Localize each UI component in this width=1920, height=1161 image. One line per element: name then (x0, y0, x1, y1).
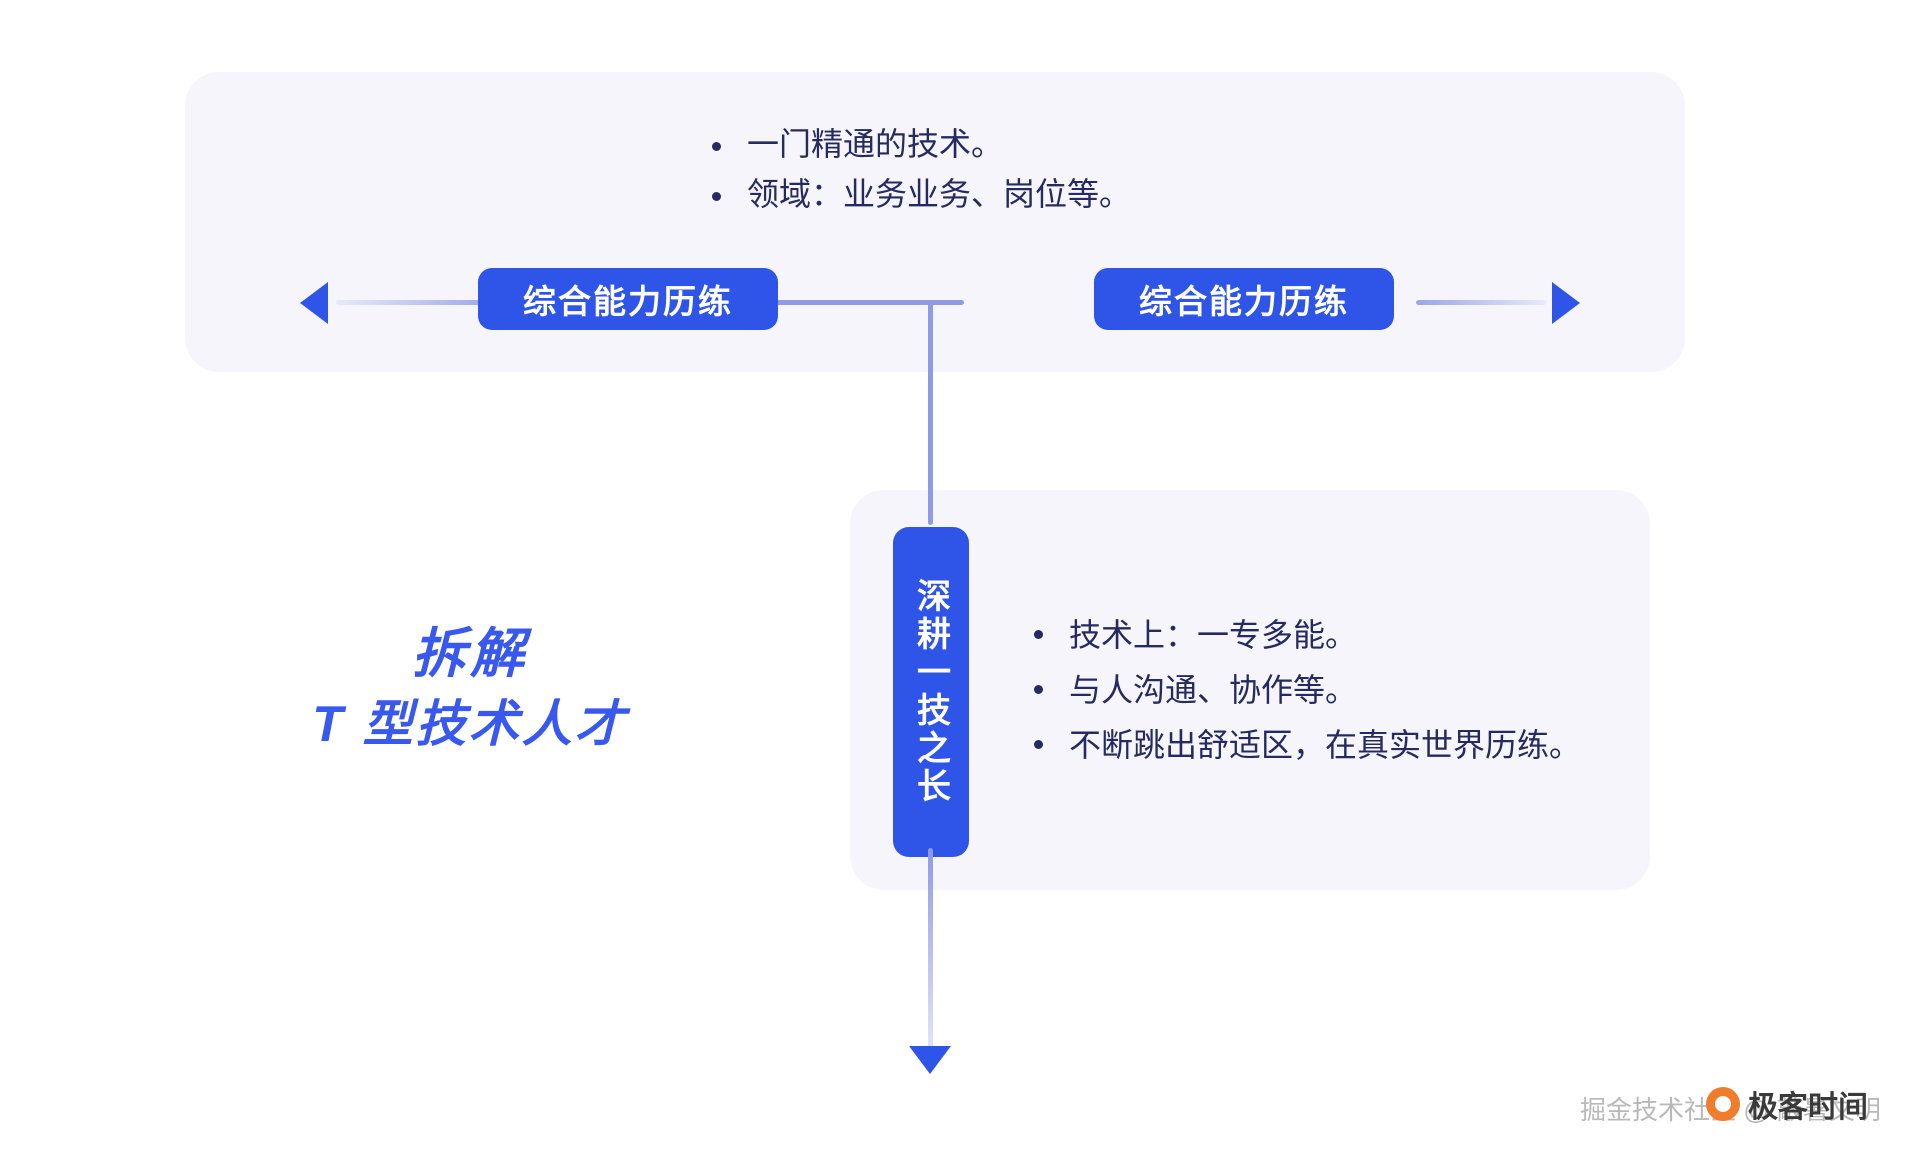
triangle-right-icon (1552, 282, 1580, 324)
bullet-dot-icon (712, 142, 721, 151)
geekbang-logo-icon (1706, 1087, 1740, 1121)
page-title: 拆解 T 型技术人才 (280, 618, 660, 758)
list-item: 领域：业务业务、岗位等。 (712, 170, 1131, 220)
bullet-text: 一门精通的技术。 (747, 120, 1003, 170)
triangle-left-icon (300, 282, 328, 324)
watermark-brand: 极客时间 (1706, 1082, 1868, 1126)
slide-canvas: 一门精通的技术。 领域：业务业务、岗位等。 综合能力历练 综合能力历练 深耕一技… (0, 0, 1920, 1161)
pill-comprehensive-ability-right[interactable]: 综合能力历练 (1094, 268, 1394, 330)
bullet-dot-icon (712, 192, 721, 201)
page-title-line-1: 拆解 (280, 618, 660, 691)
bullet-text: 不断跳出舒适区，在真实世界历练。 (1069, 718, 1581, 773)
list-item: 不断跳出舒适区，在真实世界历练。 (1034, 718, 1581, 773)
pill-deep-expertise[interactable]: 深耕一技之长 (893, 527, 969, 857)
bullet-dot-icon (1034, 740, 1043, 749)
top-bullet-list: 一门精通的技术。 领域：业务业务、岗位等。 (712, 120, 1131, 219)
axis-segment-left (336, 300, 496, 305)
axis-segment-right (1416, 300, 1546, 305)
triangle-down-icon (909, 1046, 951, 1074)
list-item: 与人沟通、协作等。 (1034, 663, 1581, 718)
bullet-text: 领域：业务业务、岗位等。 (747, 170, 1131, 220)
vertical-axis-lower (928, 848, 933, 1056)
bullet-text: 技术上：一专多能。 (1069, 608, 1357, 663)
bullet-text: 与人沟通、协作等。 (1069, 663, 1357, 718)
list-item: 技术上：一专多能。 (1034, 608, 1581, 663)
vertical-axis-upper (928, 303, 933, 525)
page-title-line-2: T 型技术人才 (280, 691, 660, 759)
list-item: 一门精通的技术。 (712, 120, 1131, 170)
top-info-card (185, 72, 1685, 372)
pill-comprehensive-ability-left[interactable]: 综合能力历练 (478, 268, 778, 330)
bullet-dot-icon (1034, 685, 1043, 694)
bottom-bullet-list: 技术上：一专多能。 与人沟通、协作等。 不断跳出舒适区，在真实世界历练。 (1034, 608, 1581, 773)
watermark-brand-text: 极客时间 (1748, 1082, 1868, 1126)
bullet-dot-icon (1034, 630, 1043, 639)
